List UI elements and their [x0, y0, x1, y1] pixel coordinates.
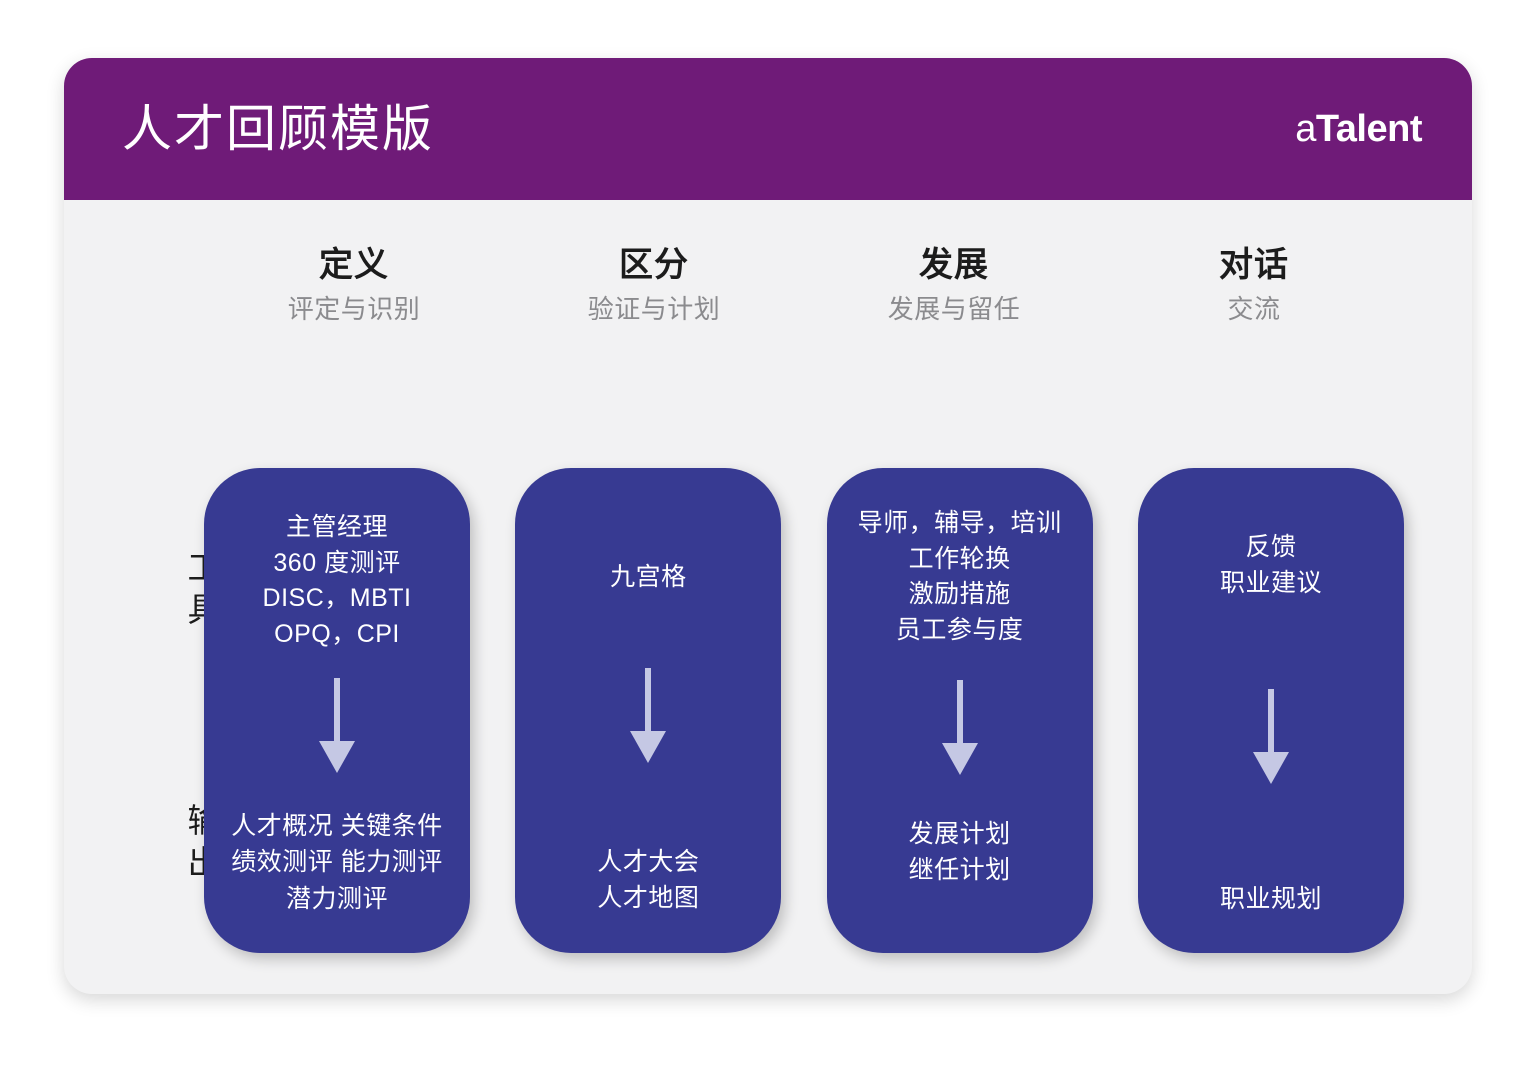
panel-header: 人才回顾模版 aTalent: [64, 58, 1472, 200]
page-title: 人才回顾模版: [122, 104, 434, 154]
logo-talent-text: Talent: [1316, 108, 1422, 150]
stage-heading-dialogue: 对话 交流: [1104, 246, 1404, 325]
tools-item: DISC，MBTI: [210, 581, 464, 617]
outputs-item: 绩效测评 能力测评: [208, 844, 466, 880]
stage-heading-define: 定义 评定与识别: [204, 246, 504, 325]
outputs-item: 职业规划: [1142, 881, 1400, 917]
stage-subtitle: 交流: [1104, 295, 1404, 325]
down-arrow-icon: [1138, 689, 1404, 787]
tools-item: OPQ，CPI: [210, 617, 464, 653]
outputs-item: 人才地图: [519, 880, 777, 916]
stage-headings: 定义 评定与识别 区分 验证与计划 发展 发展与留任 对话 交流: [204, 246, 1404, 325]
tools-list: 九宫格: [515, 560, 781, 596]
tools-item: 工作轮换: [833, 542, 1087, 578]
outputs-item: 人才大会: [519, 844, 777, 880]
stage-title: 对话: [1104, 246, 1404, 285]
atalent-logo: aTalent: [1295, 110, 1422, 148]
outputs-list: 人才概况 关键条件 绩效测评 能力测评 潜力测评: [204, 808, 470, 917]
stage-card-differentiate[interactable]: 九宫格 人才大会 人才地图: [515, 468, 781, 953]
outputs-item: 人才概况 关键条件: [208, 808, 466, 844]
tools-item: 职业建议: [1144, 566, 1398, 602]
template-panel: 人才回顾模版 aTalent 定义 评定与识别 区分 验证与计划 发展 发展与留…: [64, 58, 1472, 994]
down-arrow-icon: [515, 668, 781, 766]
stage-card-develop[interactable]: 导师，辅导，培训 工作轮换 激励措施 员工参与度 发展计划 继任计划: [827, 468, 1093, 953]
tools-item: 反馈: [1144, 530, 1398, 566]
tools-list: 反馈 职业建议: [1138, 530, 1404, 601]
outputs-item: 发展计划: [831, 816, 1089, 852]
tools-item: 员工参与度: [833, 613, 1087, 649]
outputs-list: 发展计划 继任计划: [827, 816, 1093, 889]
panel-body: 定义 评定与识别 区分 验证与计划 发展 发展与留任 对话 交流 工: [64, 200, 1472, 994]
tools-list: 导师，辅导，培训 工作轮换 激励措施 员工参与度: [827, 506, 1093, 648]
tools-item: 九宫格: [521, 560, 775, 596]
stage-cards: 主管经理 360 度测评 DISC，MBTI OPQ，CPI 人才概况 关键条件: [204, 468, 1404, 953]
stage-card-dialogue[interactable]: 反馈 职业建议 职业规划: [1138, 468, 1404, 953]
stage-card-define[interactable]: 主管经理 360 度测评 DISC，MBTI OPQ，CPI 人才概况 关键条件: [204, 468, 470, 953]
stage-heading-develop: 发展 发展与留任: [804, 246, 1104, 325]
tools-item: 360 度测评: [210, 546, 464, 582]
tools-list: 主管经理 360 度测评 DISC，MBTI OPQ，CPI: [204, 510, 470, 652]
outputs-item: 潜力测评: [208, 881, 466, 917]
down-arrow-icon: [827, 680, 1093, 778]
stage-title: 发展: [804, 246, 1104, 285]
stage-subtitle: 验证与计划: [504, 295, 804, 325]
outputs-list: 人才大会 人才地图: [515, 844, 781, 917]
stage-subtitle: 评定与识别: [204, 295, 504, 325]
outputs-list: 职业规划: [1138, 881, 1404, 917]
tools-item: 激励措施: [833, 577, 1087, 613]
logo-a-text: a: [1295, 108, 1316, 150]
tools-item: 主管经理: [210, 510, 464, 546]
stage-heading-differentiate: 区分 验证与计划: [504, 246, 804, 325]
down-arrow-icon: [204, 678, 470, 776]
slide-canvas: 人才回顾模版 aTalent 定义 评定与识别 区分 验证与计划 发展 发展与留…: [0, 0, 1536, 1073]
outputs-item: 继任计划: [831, 852, 1089, 888]
tools-item: 导师，辅导，培训: [833, 506, 1087, 542]
stage-title: 定义: [204, 246, 504, 285]
stage-title: 区分: [504, 246, 804, 285]
stage-subtitle: 发展与留任: [804, 295, 1104, 325]
